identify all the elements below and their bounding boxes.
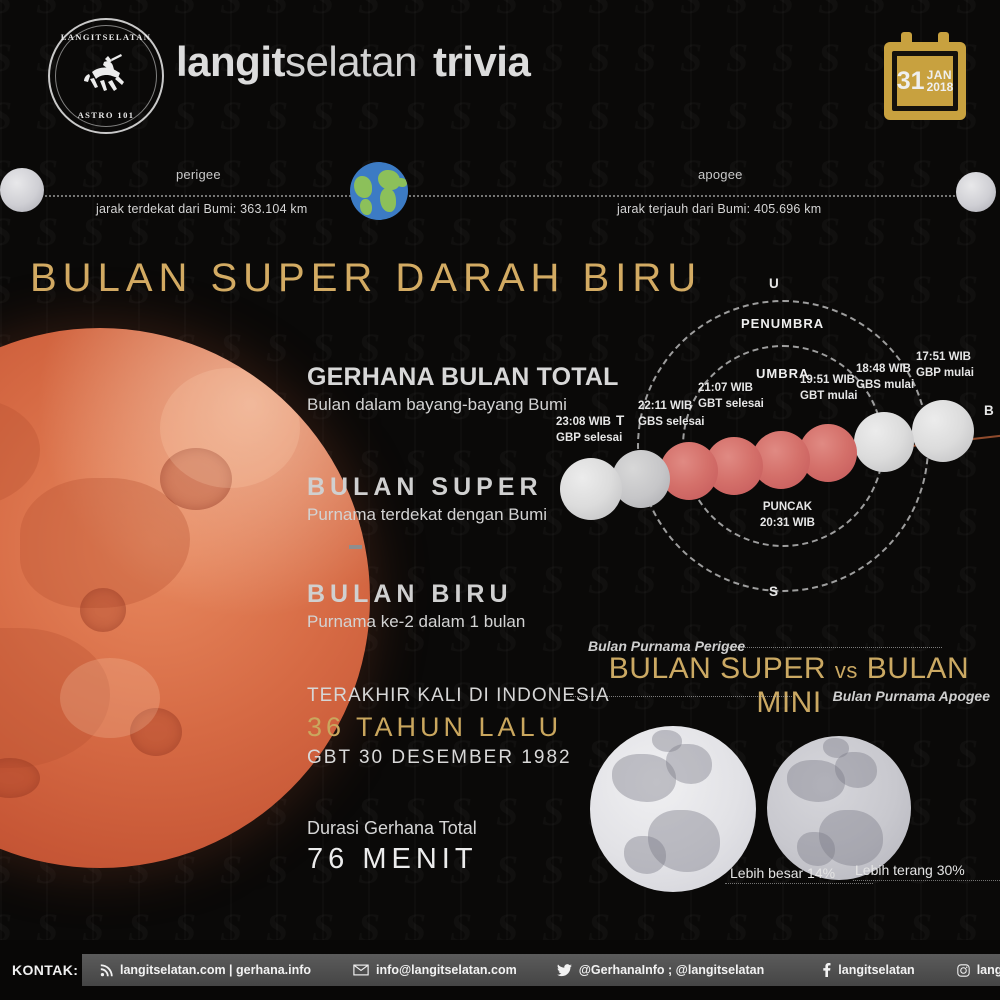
phase-label-gbs-mulai: 18:48 WIB GBS mulai (856, 362, 914, 393)
section-bulan-super: BULAN SUPER Purnama terdekat dengan Bumi (307, 473, 547, 525)
title-vs: vs (835, 658, 858, 683)
earth-icon (350, 162, 408, 220)
twitter-icon (557, 964, 572, 977)
phase-time: 22:11 WIB (638, 400, 692, 412)
caption-lebih-terang: Lebih terang 30% (855, 862, 965, 878)
durasi-label: Durasi Gerhana Total (307, 818, 478, 839)
perigee-subtitle: jarak terdekat dari Bumi: 363.104 km (96, 202, 307, 216)
durasi-value: 76 MENIT (307, 843, 478, 876)
caption-rule-2 (853, 880, 1000, 881)
terakhir-line2: 36 TAHUN LALU (307, 712, 610, 743)
phase-time: 18:48 WIB (856, 363, 911, 375)
peak-title: PUNCAK (763, 501, 812, 513)
kontak-label: KONTAK: (12, 962, 78, 978)
footer-website-text: langitselatan.com | gerhana.info (120, 963, 311, 977)
bottom-dotted-rule (570, 696, 792, 697)
footer-item-facebook[interactable]: langitselatan (822, 963, 914, 977)
compass-south: S (769, 584, 778, 599)
terakhir-line3: GBT 30 DESEMBER 1982 (307, 747, 610, 769)
apogee-subtitle: jarak terjauh dari Bumi: 405.696 km (617, 202, 821, 216)
compass-west: B (984, 403, 994, 418)
phase-time: 21:07 WIB (698, 382, 753, 394)
title-left: BULAN SUPER (609, 652, 826, 685)
compass-north: U (769, 276, 779, 291)
apogee-caption: Bulan Purnama Apogee (833, 688, 990, 704)
brand-trivia: trivia (433, 38, 530, 85)
eclipse-path-diagram: U S T B PENUMBRA UMBRA 23:08 WIB GBP sel… (560, 278, 1000, 608)
phase-event: GBP mulai (916, 367, 974, 379)
perigee-title: perigee (176, 167, 221, 182)
footer-facebook-text: langitselatan (838, 963, 914, 977)
minimoon-illustration (767, 736, 911, 880)
bulan-super-subtitle: Purnama terdekat dengan Bumi (307, 505, 547, 525)
apogee-title: apogee (698, 167, 743, 182)
moon-phase-gbp-mulai (912, 400, 974, 462)
instagram-icon (957, 964, 970, 977)
peak-time: 20:31 WIB (760, 517, 815, 529)
super-vs-mini-title: BULAN SUPER vs BULAN MINI (584, 652, 994, 720)
section-terakhir-kali: TERAKHIR KALI DI INDONESIA 36 TAHUN LALU… (307, 685, 610, 769)
penumbra-label: PENUMBRA (741, 316, 824, 331)
terakhir-line1: TERAKHIR KALI DI INDONESIA (307, 685, 610, 707)
divider-dash (349, 545, 362, 549)
brand-selatan: selatan (285, 38, 417, 85)
brand-langit: langit (176, 38, 285, 85)
footer-links-bar: langitselatan.com | gerhana.info info@la… (82, 954, 1000, 986)
rss-icon (100, 964, 113, 977)
peak-label: PUNCAK 20:31 WIB (760, 500, 815, 531)
phase-label-gbp-selesai: 23:08 WIB GBP selesai (556, 415, 622, 446)
brand-title: langitselatantrivia (176, 38, 530, 86)
moon-phase-gbs-mulai (854, 412, 914, 472)
footer-instagram-text: langitselatanmedia (977, 963, 1000, 977)
footer-item-twitter[interactable]: @GerhanaInfo ; @langitselatan (557, 963, 765, 977)
calendar-year: 2018 (927, 81, 954, 93)
phase-event: GBT mulai (800, 390, 858, 402)
phase-label-gbt-selesai: 21:07 WIB GBT selesai (698, 381, 764, 412)
perigee-moon-icon (0, 168, 44, 212)
phase-label-gbs-selesai: 22:11 WIB GBS selesai (638, 399, 704, 430)
mail-icon (353, 964, 369, 976)
orbit-dotted-line (34, 195, 990, 197)
moon-phase-gbp-selesai (560, 458, 622, 520)
top-dotted-rule (722, 647, 942, 648)
logo-top-text: LANGITSELATAN (50, 32, 162, 42)
moon-phase-gbs-selesai (612, 450, 670, 508)
calendar-date-panel: 31 JAN 2018 (892, 51, 958, 111)
phase-label-gbp-mulai: 17:51 WIB GBP mulai (916, 350, 974, 381)
calendar-body: 31 JAN 2018 (884, 42, 966, 120)
section-bulan-biru: BULAN BIRU Purnama ke-2 dalam 1 bulan (307, 580, 525, 632)
phase-label-gbt-mulai: 19:51 WIB GBT mulai (800, 373, 858, 404)
footer-email-text: info@langitselatan.com (376, 963, 517, 977)
phase-time: 17:51 WIB (916, 351, 971, 363)
phase-time: 19:51 WIB (800, 374, 855, 386)
calendar-day: 31 (897, 69, 925, 94)
footer-item-instagram[interactable]: langitselatanmedia (957, 963, 1000, 977)
calendar-month-year: JAN 2018 (927, 69, 954, 93)
phase-event: GBS selesai (638, 416, 704, 428)
bulan-biru-subtitle: Purnama ke-2 dalam 1 bulan (307, 612, 525, 632)
phase-time: 23:08 WIB (556, 416, 611, 428)
phase-event: GBS mulai (856, 379, 914, 391)
bulan-super-heading: BULAN SUPER (307, 473, 547, 502)
facebook-icon (822, 963, 831, 977)
footer-contact-bar: KONTAK: langitselatan.com | gerhana.info… (0, 940, 1000, 1000)
logo-bottom-text: ASTRO 101 (50, 110, 162, 120)
apogee-moon-icon (956, 172, 996, 212)
bulan-biru-heading: BULAN BIRU (307, 580, 525, 609)
caption-lebih-besar: Lebih besar 14% (730, 865, 835, 881)
super-vs-mini-section: Bulan Purnama Perigee BULAN SUPER vs BUL… (570, 630, 1000, 900)
langitselatan-logo[interactable]: LANGITSELATAN ASTRO 101 (48, 18, 164, 134)
caption-rule-1 (725, 883, 873, 884)
footer-item-website[interactable]: langitselatan.com | gerhana.info (100, 963, 311, 977)
calendar-icon: 31 JAN 2018 (884, 32, 966, 120)
section-durasi: Durasi Gerhana Total 76 MENIT (307, 818, 478, 876)
phase-event: GBT selesai (698, 398, 764, 410)
header: LANGITSELATAN ASTRO 101 langitselatantri… (0, 0, 1000, 150)
horse-rider-icon (78, 50, 134, 102)
footer-twitter-text: @GerhanaInfo ; @langitselatan (579, 963, 765, 977)
footer-item-email[interactable]: info@langitselatan.com (353, 963, 517, 977)
phase-event: GBP selesai (556, 432, 622, 444)
